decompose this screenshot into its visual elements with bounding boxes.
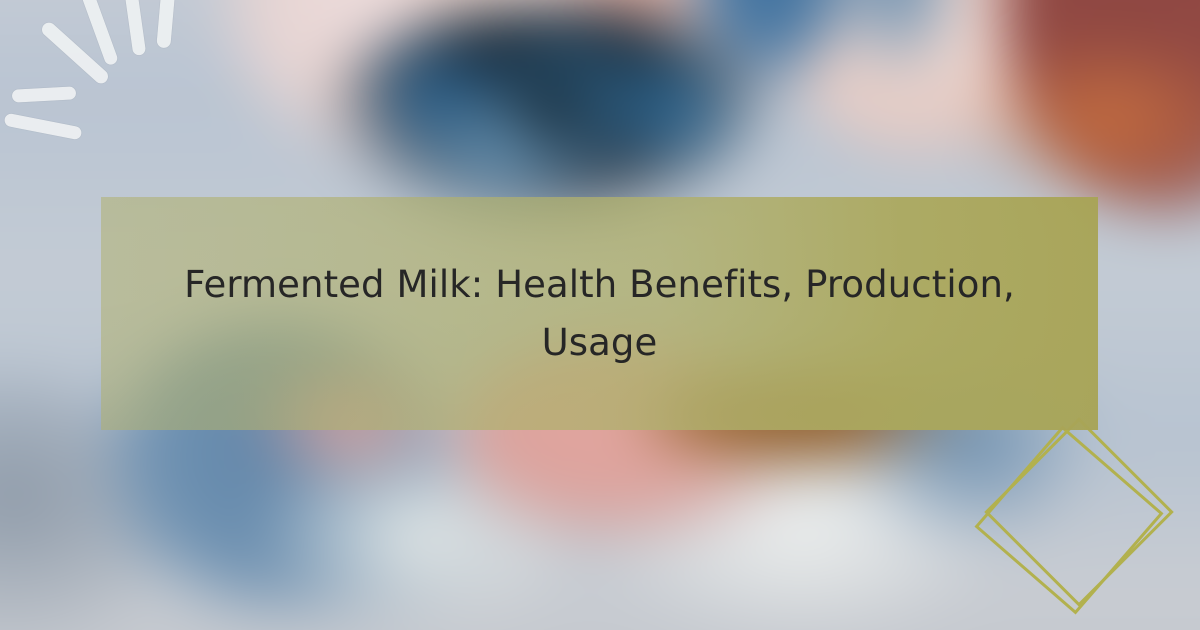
burst-ray (12, 86, 77, 102)
burst-ray (3, 113, 82, 141)
burst-ray (122, 0, 147, 56)
diamond-outline-icon (980, 405, 1200, 630)
background-blob-blueberry-dark (494, 55, 611, 161)
background-blob-blueberry-3 (589, 34, 759, 182)
diamond-outline-shape (974, 425, 1163, 614)
page-title: Fermented Milk: Health Benefits, Product… (101, 256, 1098, 371)
burst-ray (156, 0, 177, 48)
title-banner: Fermented Milk: Health Benefits, Product… (101, 197, 1098, 430)
burst-icon (0, 0, 230, 200)
og-image-canvas: Fermented Milk: Health Benefits, Product… (0, 0, 1200, 630)
